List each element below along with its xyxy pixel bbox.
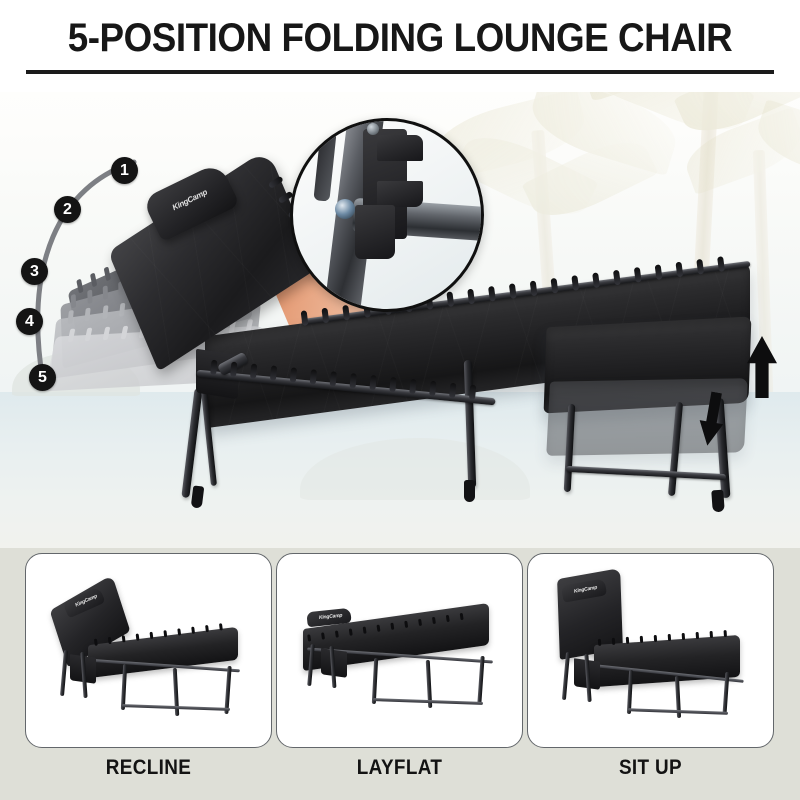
panel1-logo: KingCamp: [74, 593, 98, 608]
position-badge-3[interactable]: 3: [21, 258, 48, 285]
position-badge-5[interactable]: 5: [29, 364, 56, 391]
adjustment-bracket-callout: [290, 118, 484, 312]
panel3-logo: KingCamp: [574, 585, 598, 595]
panel-sit-up[interactable]: KingCamp: [527, 553, 774, 748]
callout-bracket-hook-lower: [377, 181, 423, 207]
position-panels: KingCamp RECLINE: [0, 548, 800, 800]
mini-chair-layflat: KingCamp: [277, 554, 523, 748]
page-title: 5-POSITION FOLDING LOUNGE CHAIR: [32, 16, 768, 61]
chair-middle-foot: [464, 480, 475, 502]
callout-screw-top: [367, 123, 379, 135]
callout-bracket-hook-upper: [377, 135, 423, 161]
mini-chair-sit-up: KingCamp: [528, 554, 774, 748]
position-badge-1[interactable]: 1: [111, 157, 138, 184]
caption-recline: RECLINE: [37, 756, 259, 780]
title-underline: [26, 70, 774, 74]
kingcamp-logo: KingCamp: [171, 185, 215, 214]
position-badge-2[interactable]: 2: [54, 196, 81, 223]
position-badge-4[interactable]: 4: [16, 308, 43, 335]
chair-rear-right-foot: [711, 490, 725, 513]
chair-front-left-leg: [181, 388, 202, 498]
panel-recline[interactable]: KingCamp: [25, 553, 272, 748]
callout-bracket-base: [355, 205, 395, 259]
panel2-logo: KingCamp: [319, 613, 343, 621]
product-infographic: KingCamp: [0, 0, 800, 800]
mini-chair-recline: KingCamp: [26, 554, 272, 748]
callout-screw-pivot: [335, 199, 355, 219]
title-bar: 5-POSITION FOLDING LOUNGE CHAIR: [0, 0, 800, 92]
panel-layflat[interactable]: KingCamp: [276, 553, 523, 748]
caption-layflat: LAYFLAT: [288, 756, 510, 780]
chair-front-left-foot: [191, 485, 205, 508]
caption-sit-up: SIT UP: [539, 756, 761, 780]
chair-rear-crossbar: [566, 466, 726, 480]
